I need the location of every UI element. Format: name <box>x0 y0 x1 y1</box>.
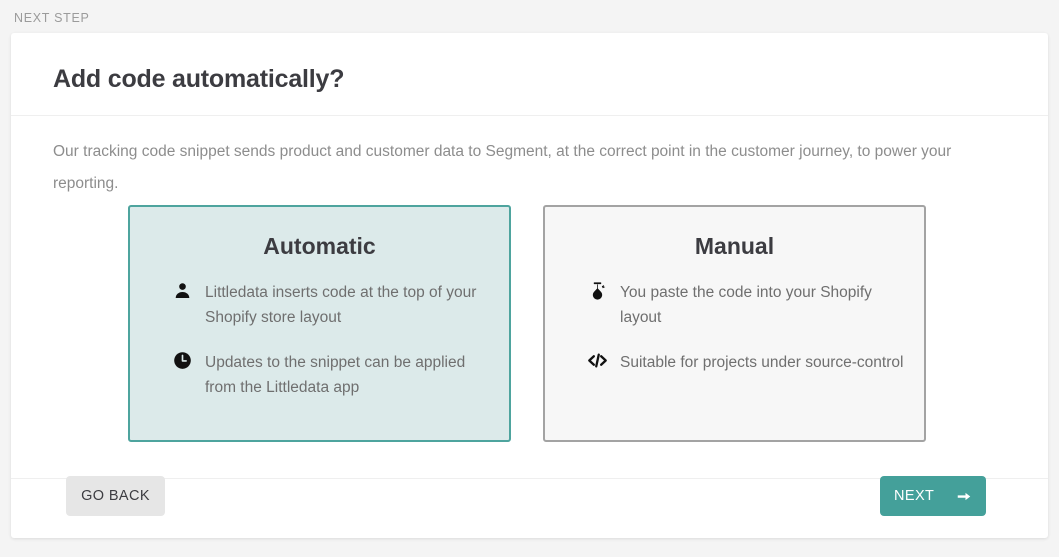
next-button[interactable]: NEXT <box>880 476 986 516</box>
wizard-panel: Add code automatically? Our tracking cod… <box>11 33 1048 538</box>
option-card-manual[interactable]: Manual You paste the code into your Shop… <box>543 205 926 442</box>
intro-text: Our tracking code snippet sends product … <box>53 136 973 200</box>
code-icon <box>586 350 608 375</box>
feature-item: You paste the code into your Shopify lay… <box>563 280 906 330</box>
option-card-title: Manual <box>563 233 906 260</box>
option-card-automatic[interactable]: Automatic Littledata inserts code at the… <box>128 205 511 442</box>
person-icon <box>171 280 193 305</box>
divider-top <box>11 115 1048 116</box>
option-card-title: Automatic <box>148 233 491 260</box>
feature-text: You paste the code into your Shopify lay… <box>620 280 906 330</box>
feature-item: Updates to the snippet can be applied fr… <box>148 350 491 400</box>
feature-text: Littledata inserts code at the top of yo… <box>205 280 491 330</box>
go-back-button[interactable]: GO BACK <box>66 476 165 516</box>
feature-text: Suitable for projects under source-contr… <box>620 350 903 375</box>
next-button-label: NEXT <box>894 488 934 504</box>
feature-text: Updates to the snippet can be applied fr… <box>205 350 491 400</box>
arrow-right-icon <box>956 489 972 504</box>
flask-icon <box>586 280 608 305</box>
feature-item: Suitable for projects under source-contr… <box>563 350 906 375</box>
step-label: NEXT STEP <box>14 11 90 25</box>
clock-icon <box>171 350 193 375</box>
option-cards: Automatic Littledata inserts code at the… <box>128 205 928 442</box>
page-title: Add code automatically? <box>53 65 344 94</box>
feature-item: Littledata inserts code at the top of yo… <box>148 280 491 330</box>
